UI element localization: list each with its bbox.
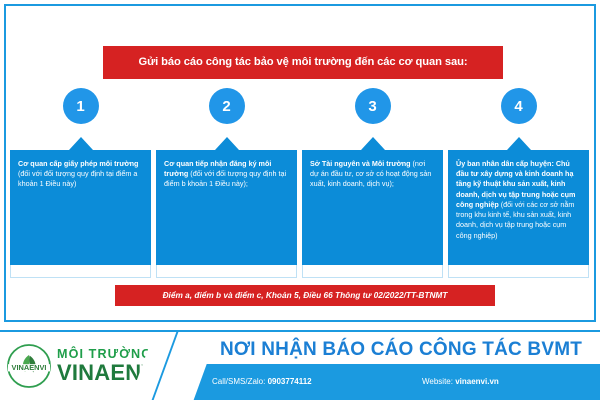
info-card-4: Ủy ban nhân dân cấp huyện: Chủ đầu tư xâ… bbox=[448, 150, 589, 265]
column-4: 4 Ủy ban nhân dân cấp huyện: Chủ đầu tư … bbox=[448, 88, 589, 278]
legal-reference-text: Điểm a, điểm b và điểm c, Khoản 5, Điều … bbox=[163, 291, 448, 299]
card-footer-strip-2 bbox=[156, 265, 297, 278]
svg-text:VINAENVI: VINAENVI bbox=[12, 363, 47, 372]
columns-container: 1 Cơ quan cấp giấy phép môi trường (đối … bbox=[10, 88, 590, 278]
leaf-logo-svg: VINAENVI bbox=[6, 343, 52, 389]
contact-website: Website: vinaenvi.vn bbox=[422, 378, 499, 386]
info-card-1-regular: (đối với đối tượng quy định tại điểm a k… bbox=[18, 169, 137, 188]
contact-phone-value: 0903774112 bbox=[268, 377, 312, 386]
step-number-circle-4: 4 bbox=[501, 88, 537, 124]
step-number-circle-1: 1 bbox=[63, 88, 99, 124]
title-banner-text: Gửi báo cáo công tác bảo vệ môi trường đ… bbox=[139, 56, 468, 68]
info-card-3-bold: Sở Tài nguyên và Môi trường bbox=[310, 159, 412, 168]
step-number-circle-2: 2 bbox=[209, 88, 245, 124]
leaf-logo-icon: VINAENVI bbox=[6, 343, 52, 389]
contact-phone-label: Call/SMS/Zalo: bbox=[212, 377, 268, 386]
info-card-1-bold: Cơ quan cấp giấy phép môi trường bbox=[18, 159, 138, 168]
footer-contact-row: Call/SMS/Zalo: 0903774112 Website: vinae… bbox=[212, 364, 600, 400]
card-pointer-2 bbox=[215, 137, 239, 150]
column-1: 1 Cơ quan cấp giấy phép môi trường (đối … bbox=[10, 88, 151, 278]
card-pointer-4 bbox=[507, 137, 531, 150]
contact-phone: Call/SMS/Zalo: 0903774112 bbox=[212, 378, 422, 386]
card-footer-strip-4 bbox=[448, 265, 589, 278]
card-footer-strip-3 bbox=[302, 265, 443, 278]
footer-title-text: NƠI NHẬN BÁO CÁO CÔNG TÁC BVMT bbox=[220, 340, 582, 359]
info-card-1: Cơ quan cấp giấy phép môi trường (đối vớ… bbox=[10, 150, 151, 265]
info-card-2: Cơ quan tiếp nhận đăng ký môi trường (đố… bbox=[156, 150, 297, 265]
footer-panel: NƠI NHẬN BÁO CÁO CÔNG TÁC BVMT Call/SMS/… bbox=[176, 332, 600, 400]
contact-website-value: vinaenvi.vn bbox=[455, 377, 499, 386]
footer-title: NƠI NHẬN BÁO CÁO CÔNG TÁC BVMT bbox=[206, 334, 596, 364]
column-3: 3 Sở Tài nguyên và Môi trường (nơi dự án… bbox=[302, 88, 443, 278]
column-2: 2 Cơ quan tiếp nhận đăng ký môi trường (… bbox=[156, 88, 297, 278]
legal-reference-banner: Điểm a, điểm b và điểm c, Khoản 5, Điều … bbox=[115, 285, 495, 306]
contact-website-label: Website: bbox=[422, 377, 455, 386]
card-footer-strip-1 bbox=[10, 265, 151, 278]
card-pointer-1 bbox=[69, 137, 93, 150]
card-pointer-3 bbox=[361, 137, 385, 150]
footer: VINAENVI MÔI TRƯỜNG VINAENVI NƠI NHẬN BÁ… bbox=[0, 330, 600, 400]
info-card-3: Sở Tài nguyên và Môi trường (nơi dự án đ… bbox=[302, 150, 443, 265]
title-banner: Gửi báo cáo công tác bảo vệ môi trường đ… bbox=[103, 46, 503, 79]
step-number-circle-3: 3 bbox=[355, 88, 391, 124]
infographic-poster: Gửi báo cáo công tác bảo vệ môi trường đ… bbox=[0, 0, 600, 400]
